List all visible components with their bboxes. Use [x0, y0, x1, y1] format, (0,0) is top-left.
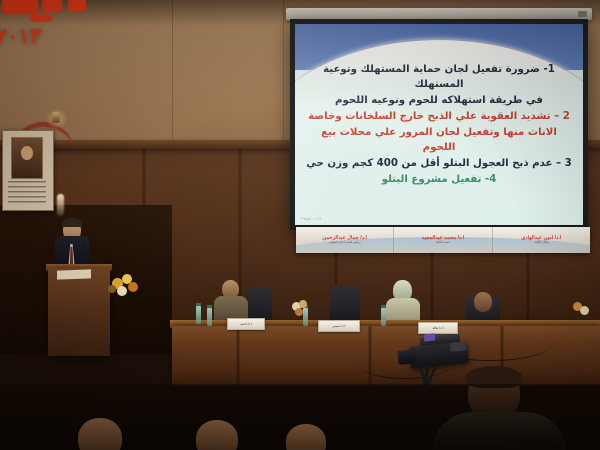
chair — [330, 286, 360, 324]
chair — [246, 288, 272, 322]
banner-person-title: وكيل الكلية — [493, 241, 590, 244]
roller-knob-icon — [578, 11, 587, 17]
slide-line-4: الاناث منها وتفعيل لجان المرور علي محلات… — [305, 125, 573, 155]
water-bottle — [207, 308, 212, 326]
speaker-hair — [62, 218, 82, 227]
slide-text-body: 1- ضرورة تفعيل لجان حماية المستهلك وتوعي… — [295, 62, 583, 222]
slide-line-3: 2 – تشديد العقوبة علي الذبح خارج السلخان… — [305, 109, 573, 124]
slide-page-footer: Page • 13 — [301, 216, 321, 221]
banner-cell: ا.د/ محمد عبدالمجيد عميد الكلية — [394, 236, 491, 245]
banner-glyph — [42, 0, 62, 12]
flower-petal — [117, 286, 127, 296]
water-bottle — [381, 308, 386, 326]
bottle-cap — [381, 305, 386, 308]
wall-banner: ٢٠١٣ — [0, 0, 100, 56]
candle-light — [57, 194, 64, 216]
bottle-cap — [196, 303, 201, 306]
presentation-slide: 1- ضرورة تفعيل لجان حماية المستهلك وتوعي… — [295, 24, 583, 225]
podium — [48, 268, 110, 356]
panel-name-banner: ا.د/ جمال عبدالرحمن رئيس قسم انتاج الحيو… — [296, 227, 590, 253]
audience-head — [286, 424, 326, 450]
panelist-head — [474, 292, 492, 312]
banner-person-title: رئيس قسم انتاج الحيوان — [296, 241, 393, 244]
portrait-photo — [11, 137, 43, 179]
slide-line-2: في طريقة استهلاكه للحوم ونوعيه اللحوم — [305, 93, 573, 108]
podium-notes — [57, 269, 91, 279]
wall-sconce-icon — [52, 112, 60, 123]
banner-person-title: عميد الكلية — [394, 241, 491, 244]
name-placard: ا.د/ هالة — [418, 322, 458, 334]
slide-line-5: 3 – عدم ذبح العجول البتلو أقل من 400 كجم… — [305, 156, 573, 171]
flower-petal — [295, 308, 303, 316]
banner-year-text: ٢٠١٣ — [0, 26, 41, 47]
banner-cell: ا.د/ جمال عبدالرحمن رئيس قسم انتاج الحيو… — [296, 236, 393, 245]
flower-petal — [299, 300, 307, 308]
portrait-caption-lines — [8, 181, 46, 205]
banner-glyph — [30, 14, 52, 22]
flower-petal — [580, 306, 589, 315]
audience-head — [196, 420, 238, 450]
name-placard: ا.د/ احمد — [227, 318, 265, 330]
camera-hood — [450, 341, 467, 352]
camera-lens-icon — [397, 349, 416, 365]
conference-hall-photo: ٢٠١٣ 1- ضرورة تفعيل لجان حماية المستهلك … — [0, 0, 600, 450]
bottle-cap — [207, 305, 212, 308]
water-bottle — [196, 306, 201, 324]
flower-petal — [108, 285, 116, 293]
audience-head — [78, 418, 122, 450]
name-placard: ا.د/ سمير — [318, 320, 360, 332]
slide-line-6: 4- تفعيل مشروع البتلو — [305, 172, 573, 187]
table-flowers — [570, 300, 592, 324]
slide-line-1: 1- ضرورة تفعيل لجان حماية المستهلك وتوعي… — [305, 62, 573, 92]
framed-portrait — [2, 130, 54, 211]
banner-glyph — [2, 0, 38, 14]
table-flowers — [290, 300, 312, 322]
camera-viewfinder — [424, 333, 436, 341]
banner-cell: ا.د/ امين عبدالهادي وكيل الكلية — [493, 236, 590, 245]
microphone-icon — [82, 236, 88, 242]
flower-arrangement — [108, 272, 142, 300]
portrait-face — [21, 146, 33, 160]
projection-screen: 1- ضرورة تفعيل لجان حماية المستهلك وتوعي… — [290, 19, 588, 230]
banner-glyph — [68, 0, 86, 12]
flower-petal — [128, 282, 138, 292]
